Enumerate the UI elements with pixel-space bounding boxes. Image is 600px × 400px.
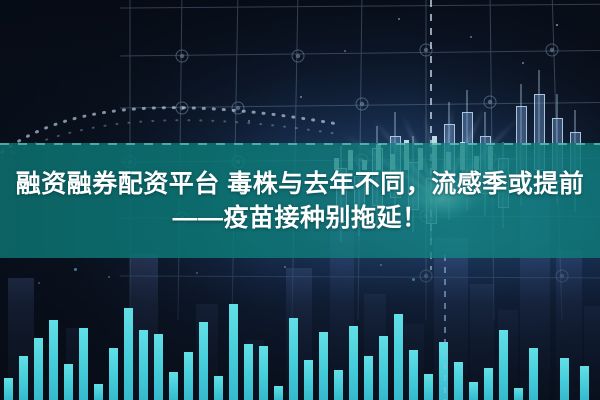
headline-line-2: ——疫苗接种别拖延！	[172, 204, 427, 232]
dashed-scanline-lower	[444, 255, 446, 400]
cyan-bar-chart	[0, 270, 600, 400]
headline-line-1: 融资融券配资平台 毒株与去年不同，流感季或提前	[16, 170, 584, 198]
headline: 融资融券配资平台 毒株与去年不同，流感季或提前 ——疫苗接种别拖延！	[0, 143, 600, 258]
banner-image: 融资融券配资平台 毒株与去年不同，流感季或提前 ——疫苗接种别拖延！	[0, 0, 600, 400]
